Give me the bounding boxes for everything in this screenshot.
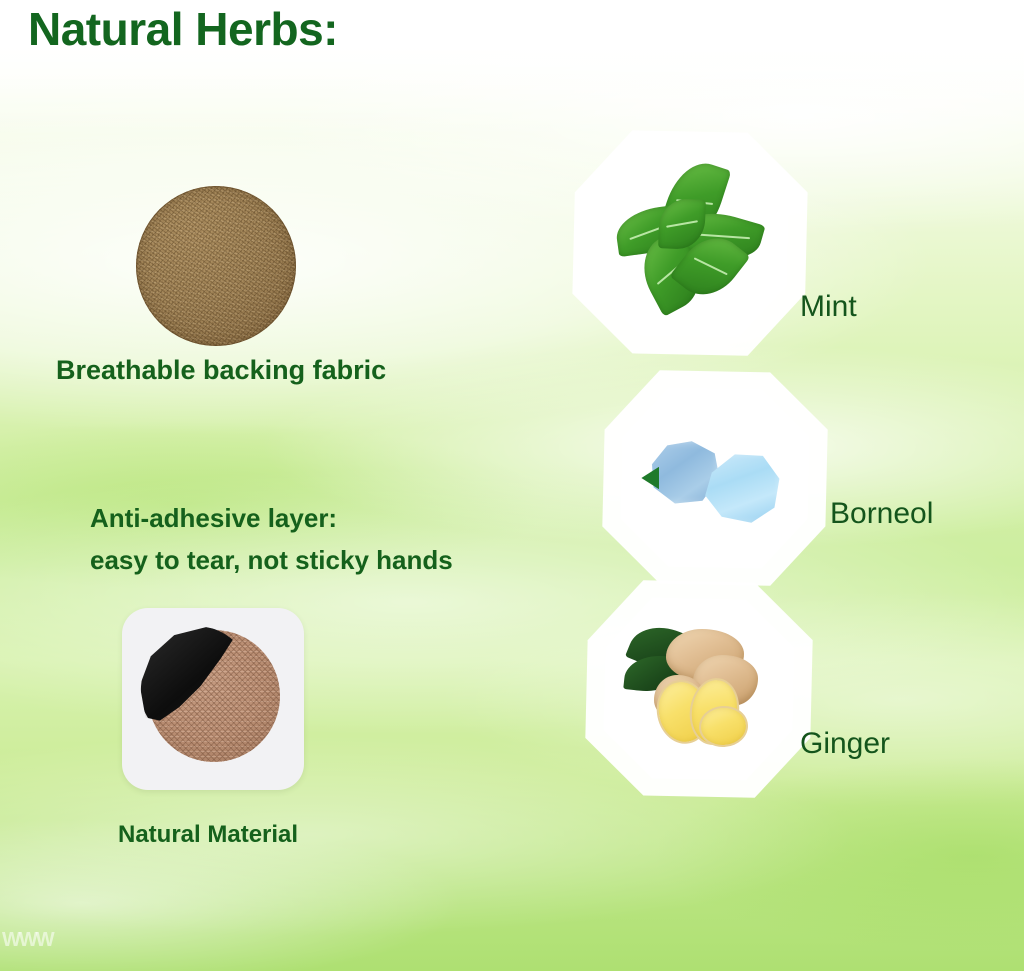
herb-label-borneol: Borneol xyxy=(830,497,933,531)
caption-anti-adhesive-line1: Anti-adhesive layer: xyxy=(90,503,337,534)
caption-natural-material: Natural Material xyxy=(118,821,298,849)
borneol-crystals-icon xyxy=(641,408,788,549)
herb-label-ginger: Ginger xyxy=(800,727,890,761)
herb-badge-mint xyxy=(570,128,810,358)
borneol-green-chip xyxy=(641,467,659,490)
product-infographic: Natural Herbs: Breathable backing fabric… xyxy=(0,0,1024,971)
watermark-text: WWW xyxy=(2,929,53,952)
herb-badge-ginger xyxy=(583,578,815,800)
ginger-root-icon xyxy=(625,618,773,760)
brown-fabric-disc-icon xyxy=(136,186,296,346)
mint-leaves-icon xyxy=(613,169,767,316)
patch-peeling-film-icon xyxy=(122,608,304,790)
herb-badge-borneol xyxy=(600,368,830,588)
herb-label-mint: Mint xyxy=(800,290,857,324)
caption-breathable-backing-fabric: Breathable backing fabric xyxy=(56,355,386,386)
caption-anti-adhesive-line2: easy to tear, not sticky hands xyxy=(90,545,453,576)
fabric-rim xyxy=(136,186,296,346)
page-title: Natural Herbs: xyxy=(28,2,338,56)
